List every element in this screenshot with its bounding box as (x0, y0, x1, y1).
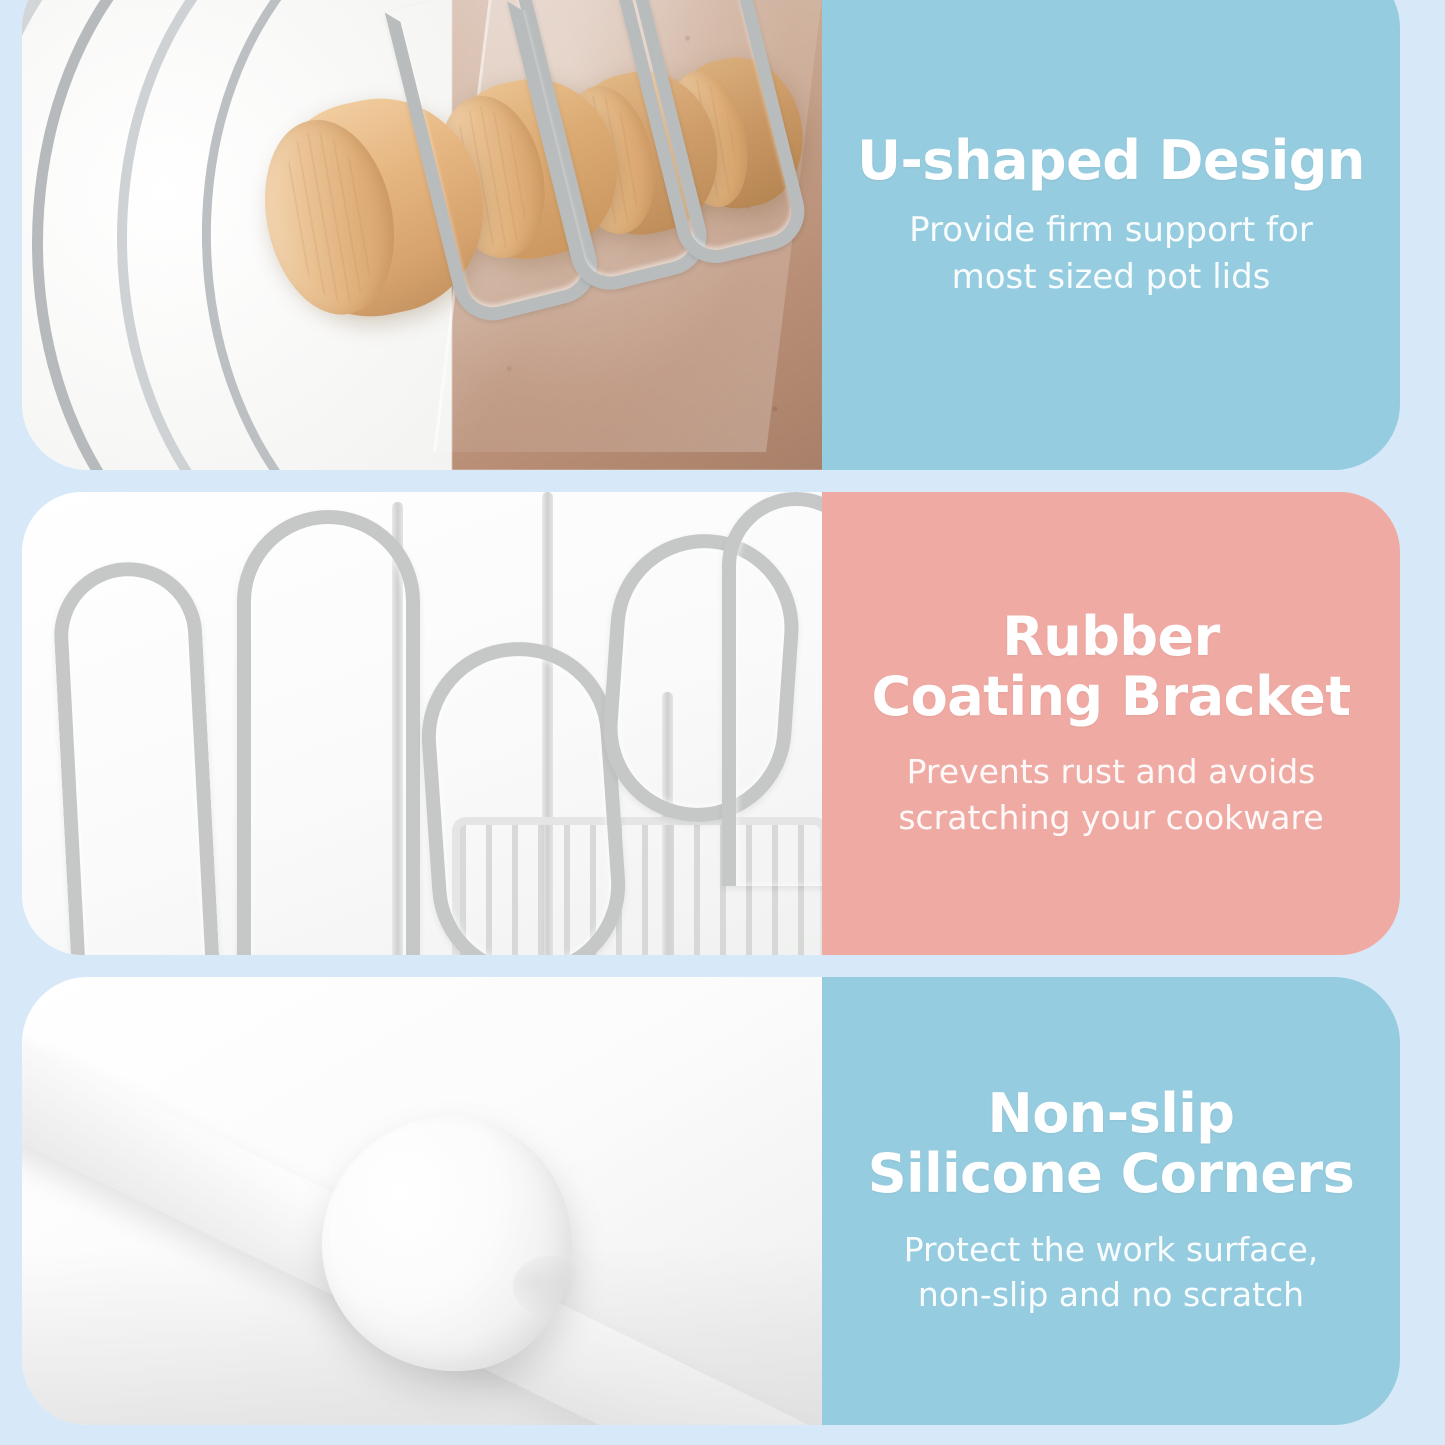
feature-subline-line-2: non-slip and no scratch (918, 1275, 1304, 1314)
feature-subline: Protect the work surface, non-slip and n… (904, 1227, 1319, 1318)
feature-text-block-non-slip-silicone-corners: Non-slip Silicone Corners Protect the wo… (822, 977, 1400, 1425)
rubber-coated-wire-loop (50, 558, 221, 955)
feature-headline: Rubber Coating Bracket (871, 607, 1350, 728)
feature-headline-line-2: Silicone Corners (868, 1142, 1355, 1205)
feature-headline: Non-slip Silicone Corners (868, 1084, 1355, 1205)
product-photo-u-shaped-design (22, 0, 822, 470)
feature-subline: Prevents rust and avoids scratching your… (898, 749, 1323, 840)
feature-headline-line-1: Rubber (1002, 605, 1220, 668)
feature-panel-rubber-coating-bracket: Rubber Coating Bracket Prevents rust and… (22, 492, 1400, 955)
feature-headline-line-1: Non-slip (988, 1082, 1235, 1145)
feature-panel-u-shaped-design: U-shaped Design Provide firm support for… (22, 0, 1400, 470)
infographic-board: U-shaped Design Provide firm support for… (0, 0, 1445, 1445)
feature-subline-line-1: Protect the work surface, (904, 1230, 1319, 1269)
rubber-coated-wire-loop (237, 510, 420, 955)
feature-subline-line-1: Prevents rust and avoids (907, 752, 1316, 791)
feature-headline: U-shaped Design (857, 131, 1365, 191)
product-photo-non-slip-silicone-corners (22, 977, 822, 1425)
feature-subline-line-1: Provide firm support for (909, 210, 1313, 250)
feature-subline-line-2: scratching your cookware (898, 798, 1323, 837)
feature-text-block-u-shaped-design: U-shaped Design Provide firm support for… (822, 0, 1400, 470)
feature-panel-non-slip-silicone-corners: Non-slip Silicone Corners Protect the wo… (22, 977, 1400, 1425)
feature-text-block-rubber-coating-bracket: Rubber Coating Bracket Prevents rust and… (822, 492, 1400, 955)
feature-headline-line-2: Coating Bracket (871, 665, 1350, 728)
product-photo-rubber-coating-bracket (22, 492, 822, 955)
feature-subline: Provide firm support for most sized pot … (909, 207, 1313, 301)
rubber-coated-wire-loop (722, 492, 822, 886)
feature-subline-line-2: most sized pot lids (952, 257, 1271, 297)
